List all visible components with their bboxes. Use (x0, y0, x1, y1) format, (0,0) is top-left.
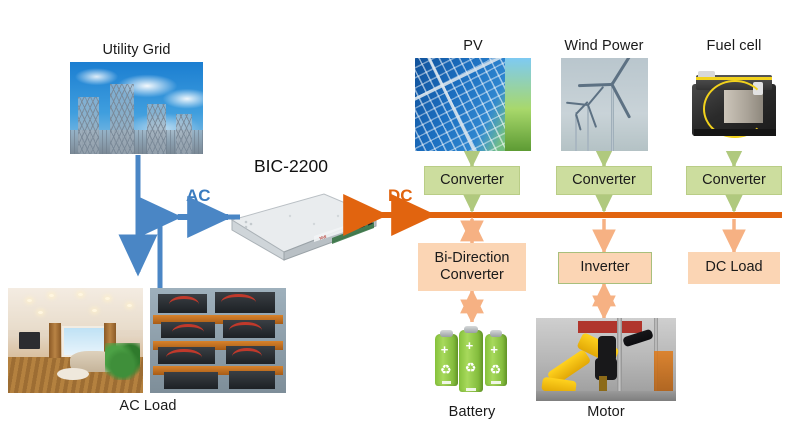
dc-load-box[interactable]: DC Load (688, 252, 780, 284)
converter-fuelcell-label: Converter (702, 172, 766, 189)
bi-direction-converter-label-line2: Converter (440, 267, 504, 284)
bi-direction-converter-label-line1: Bi-Direction (435, 250, 510, 267)
dc-bus-label: DC (388, 186, 413, 206)
converter-wind-label: Converter (572, 172, 636, 189)
pv-image (415, 58, 531, 151)
battery-label: Battery (412, 404, 532, 420)
fuel-cell-label: Fuel cell (676, 38, 792, 54)
inverter-box[interactable]: Inverter (558, 252, 652, 284)
fuel-cell-image (686, 58, 782, 151)
ac-load-label: AC Load (88, 398, 208, 414)
utility-grid-label: Utility Grid (70, 42, 203, 58)
bi-direction-converter-box[interactable]: Bi-Direction Converter (418, 243, 526, 291)
converter-fuelcell-box[interactable]: Converter (686, 166, 782, 195)
ac-load-room-image (8, 288, 143, 393)
converter-wind-box[interactable]: Converter (556, 166, 652, 195)
inverter-label: Inverter (580, 259, 629, 276)
pv-label: PV (415, 38, 531, 54)
converter-pv-label: Converter (440, 172, 504, 189)
dc-load-label: DC Load (705, 259, 762, 276)
motor-label: Motor (546, 404, 666, 420)
converter-pv-box[interactable]: Converter (424, 166, 520, 195)
ac-load-rack-image (150, 288, 286, 393)
wind-power-label: Wind Power (546, 38, 662, 54)
bic-2200-device: MW (228, 186, 380, 266)
utility-grid-image (70, 62, 203, 154)
wind-power-image (561, 58, 648, 151)
motor-image (536, 318, 676, 401)
ac-bus-label: AC (186, 186, 211, 206)
battery-image: + + + ♻ ♻ ♻ (432, 322, 512, 400)
bic-2200-title: BIC-2200 (254, 156, 328, 177)
system-diagram: Utility Grid BIC-2200 MW (0, 0, 802, 438)
